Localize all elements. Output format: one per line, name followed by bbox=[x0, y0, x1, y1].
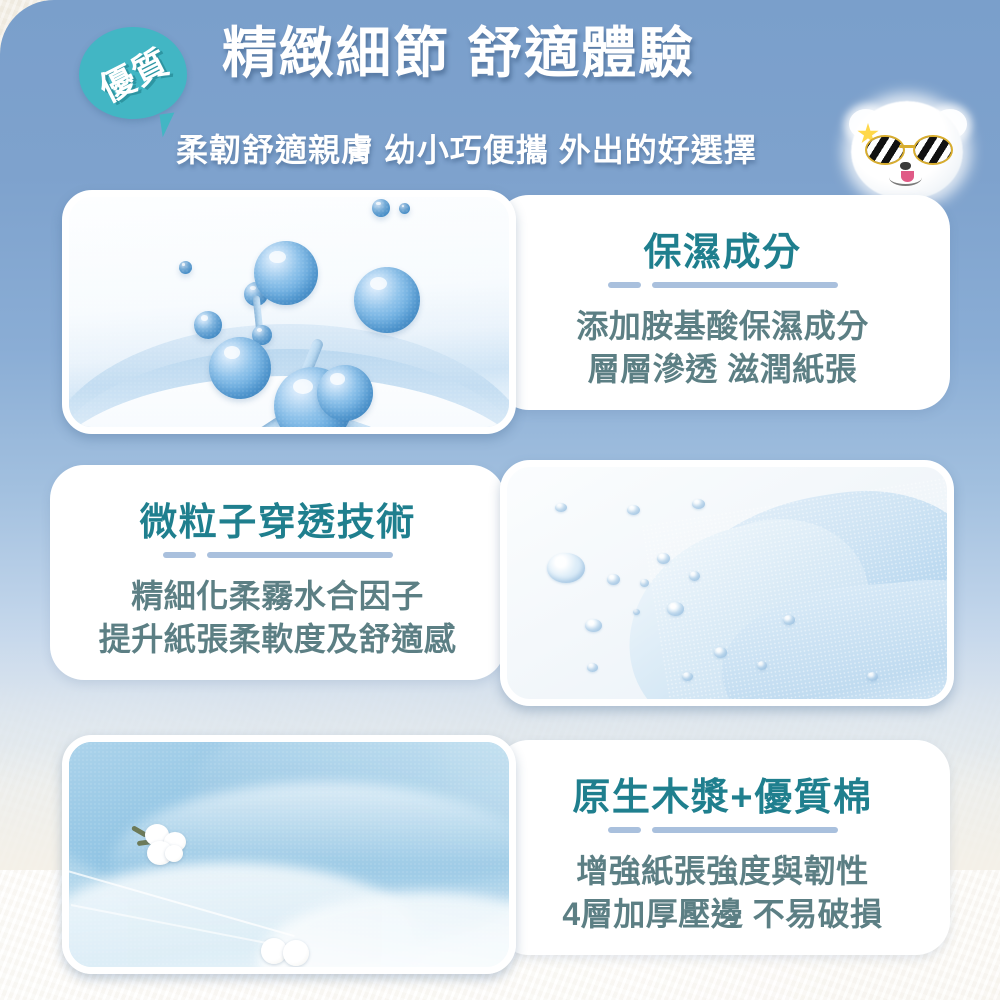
feature-divider-3 bbox=[495, 826, 950, 833]
dog-nose bbox=[900, 162, 911, 170]
feature-divider-1 bbox=[495, 281, 950, 288]
feature-title-2: 微粒子穿透技術 bbox=[50, 491, 505, 546]
feature-body-3: 增強紙張強度與韌性 4層加厚壓邊 不易破損 bbox=[495, 850, 950, 936]
page-title: 精緻細節 舒適體驗 bbox=[222, 24, 782, 83]
sunglasses-icon bbox=[865, 135, 951, 161]
feature-panel-3: 原生木漿+優質棉 增強紙張強度與韌性 4層加厚壓邊 不易破損 bbox=[495, 740, 950, 955]
feature-body-line-2: 提升紙張柔軟度及舒適感 bbox=[50, 618, 505, 661]
feature-body-line-2: 4層加厚壓邊 不易破損 bbox=[495, 893, 950, 936]
sunglass-lens-right bbox=[913, 135, 953, 165]
quality-badge-label: 優質 bbox=[64, 7, 202, 138]
header: 優質 精緻細節 舒適體驗 柔韌舒適親膚 幼小巧便攜 外出的好選擇 bbox=[0, 0, 1000, 185]
page-subtitle: 柔韌舒適親膚 幼小巧便攜 外出的好選擇 bbox=[176, 125, 836, 171]
feature-image-2 bbox=[500, 460, 954, 706]
feature-body-line-1: 增強紙張強度與韌性 bbox=[495, 850, 950, 893]
feature-title-1: 保濕成分 bbox=[495, 221, 950, 276]
feature-body-1: 添加胺基酸保濕成分 層層滲透 滋潤紙張 bbox=[495, 305, 950, 391]
dog-tongue bbox=[901, 171, 914, 182]
sunglass-lens-left bbox=[865, 135, 905, 165]
feature-divider-2 bbox=[50, 551, 505, 558]
cotton-boll-icon bbox=[131, 824, 193, 872]
feature-image-1 bbox=[62, 190, 516, 434]
feature-panel-2: 微粒子穿透技術 精細化柔霧水合因子 提升紙張柔軟度及舒適感 bbox=[50, 465, 505, 680]
feature-body-line-1: 添加胺基酸保濕成分 bbox=[495, 305, 950, 348]
feature-title-3: 原生木漿+優質棉 bbox=[495, 766, 950, 821]
promo-page: 優質 精緻細節 舒適體驗 柔韌舒適親膚 幼小巧便攜 外出的好選擇 保濕成分 添加… bbox=[0, 0, 1000, 1000]
dog-mascot-icon bbox=[843, 95, 971, 203]
feature-body-line-2: 層層滲透 滋潤紙張 bbox=[495, 348, 950, 391]
feature-body-2: 精細化柔霧水合因子 提升紙張柔軟度及舒適感 bbox=[50, 575, 505, 661]
quality-badge: 優質 bbox=[79, 27, 187, 119]
feature-body-line-1: 精細化柔霧水合因子 bbox=[50, 575, 505, 618]
sunglass-bridge bbox=[899, 145, 915, 148]
feature-image-3 bbox=[62, 735, 516, 974]
feature-panel-1: 保濕成分 添加胺基酸保濕成分 層層滲透 滋潤紙張 bbox=[495, 195, 950, 410]
